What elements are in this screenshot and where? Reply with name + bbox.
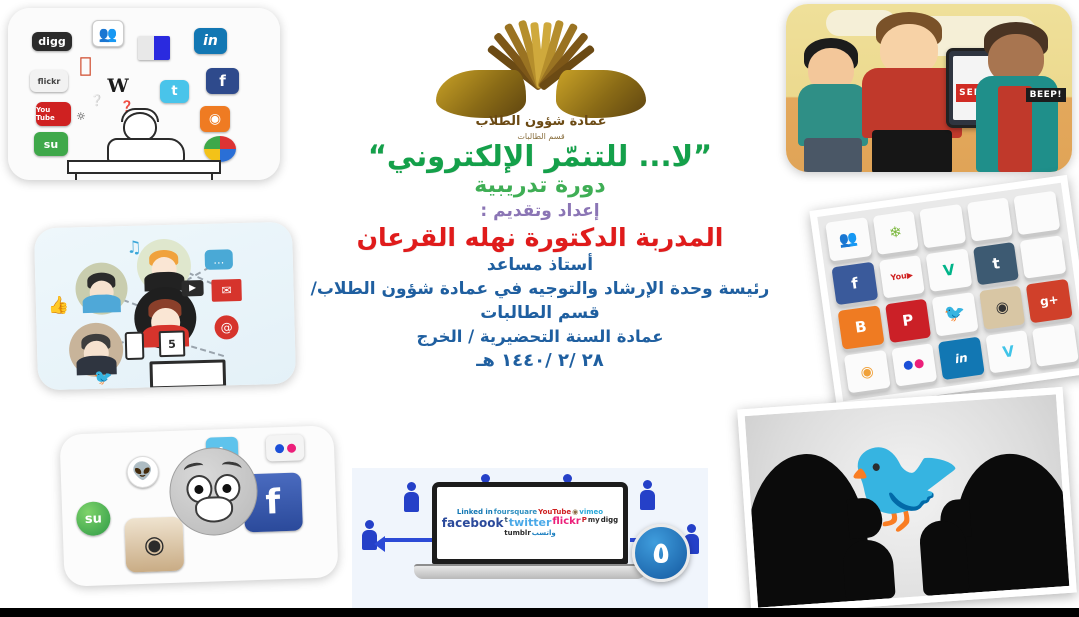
- key-blank: [1020, 235, 1067, 279]
- trainer-role: رئيسة وحدة الإرشاد والتوجيه في عمادة شؤو…: [300, 279, 780, 300]
- logo-title: عمادة شؤون الطلاب: [428, 114, 654, 129]
- msn-icon: [138, 36, 170, 60]
- avatar: [75, 262, 128, 315]
- stumbleupon-icon: su: [34, 132, 68, 156]
- facebook-icon: f: [206, 68, 239, 94]
- key-twitter: 🐦: [932, 292, 979, 336]
- hand-holding-phone-right: [919, 519, 970, 596]
- trainer-section: قسم الطالبات: [300, 303, 780, 324]
- flickr-icon: [266, 434, 305, 461]
- img-keyboard-keys: 👥 ❄ f You▶ V t B P 🐦 ◉ g+ ◉: [809, 175, 1079, 409]
- key-blank: [1032, 323, 1079, 367]
- img-social-network: ♫ … ▶ ✉ @ 👍 5 🐦: [34, 222, 296, 391]
- logo-instagram: ◉: [572, 509, 578, 516]
- thumbs-up-icon: 👍: [48, 296, 70, 317]
- apple-icon: : [72, 52, 99, 77]
- key-vimeo: V: [985, 330, 1032, 374]
- email-envelope-icon: ✉: [211, 279, 242, 302]
- wikipedia-icon: W: [104, 74, 132, 98]
- key-linkedin: in: [938, 336, 985, 380]
- logo-pinterest: P: [582, 517, 587, 529]
- video-play-icon: ▶: [181, 280, 203, 297]
- page-title: ”لا... للتنمّر الإلكتروني“: [300, 140, 780, 172]
- logo-linkedin: Linked in: [457, 509, 493, 516]
- flickr-icon: flickr: [30, 70, 68, 92]
- at-sign-icon: @: [214, 315, 239, 340]
- twitter-bird-icon: 🐦: [94, 368, 113, 386]
- logo-youtube: YouTube: [538, 509, 571, 516]
- trainer-rank: أستاذ مساعد: [300, 255, 780, 276]
- key-instagram: ◉: [979, 285, 1026, 329]
- twitter-icon: t: [160, 80, 189, 103]
- key-blank: [919, 204, 966, 248]
- key-rss: ◉: [844, 349, 891, 393]
- myspace-icon: 👥: [92, 20, 124, 47]
- laptop-screen: Linked in foursquare YouTube ◉ vimeo fac…: [437, 487, 623, 559]
- youtube-icon: You Tube: [36, 102, 71, 126]
- smartphone-icon: [125, 332, 145, 360]
- key-youtube: You▶: [878, 255, 925, 299]
- trainer-name: المدربة الدكتورة نهله القرعان: [300, 223, 780, 252]
- hand-holding-phone-left: [842, 538, 896, 601]
- logo-vimeo: vimeo: [579, 509, 603, 516]
- rss-icon: ◉: [200, 106, 230, 132]
- poster-text-block: ”لا... للتنمّر الإلكتروني“ دورة تدريبية …: [300, 140, 780, 372]
- key-facebook: f: [831, 261, 878, 305]
- thought-scribble: ☼: [76, 110, 86, 123]
- date-line: ٢٨ /٢ /١٤٤٠ هـ: [300, 350, 780, 372]
- org-logo: عمادة شؤون الطلاب قسم الطالبات: [428, 14, 654, 152]
- arrow-left: [384, 538, 432, 542]
- msn-butterfly-icon: [204, 136, 236, 162]
- key-tumblr: t: [973, 241, 1020, 285]
- logo-tumblr-2: tumblr: [504, 530, 531, 537]
- key-blogger: B: [838, 305, 885, 349]
- key-pinterest: P: [885, 299, 932, 343]
- opera-badge-icon: ٥: [632, 524, 690, 582]
- logo-digg: digg: [601, 517, 618, 529]
- key-google-plus: g+: [1026, 279, 1073, 323]
- prepared-by-label: إعداد وتقديم :: [300, 201, 780, 221]
- poster-canvas: digg 👥 in  flickr W t f You Tube ◉ su ❔…: [0, 0, 1079, 617]
- course-subtitle: دورة تدريبية: [300, 173, 780, 198]
- logo-flickr: flickr: [552, 517, 580, 529]
- logo-twitter: twitter: [509, 517, 552, 529]
- beep-label: BEEP!: [1026, 88, 1066, 102]
- img-laptop-social: Linked in foursquare YouTube ◉ vimeo fac…: [352, 468, 708, 608]
- deanship-line: عمادة السنة التحضيرية / الخرج: [300, 327, 780, 347]
- logo-facebook: facebook: [442, 517, 504, 529]
- stumbleupon-icon: su: [76, 501, 111, 536]
- key-myspace: 👥: [825, 217, 872, 261]
- person-figure: [640, 480, 655, 510]
- img-twitter-silhouettes: 🐦: [737, 387, 1077, 615]
- chat-bubble-icon: …: [205, 249, 234, 270]
- img-cyberbully-kids: SEND BEEP!: [786, 4, 1072, 172]
- instagram-icon: ◉: [124, 517, 184, 573]
- hand-left-graphic: [436, 70, 526, 118]
- img-social-overload: digg 👥 in  flickr W t f You Tube ◉ su ❔…: [8, 8, 280, 180]
- laptop-base: [414, 564, 646, 579]
- laptop-illustration: Linked in foursquare YouTube ◉ vimeo fac…: [432, 482, 628, 579]
- key-msn: ❄: [872, 211, 919, 255]
- key-flickr: [891, 343, 938, 387]
- person-figure: [404, 482, 419, 512]
- logo-myspace: my: [588, 517, 600, 529]
- key-vine: V: [926, 248, 973, 292]
- calendar-icon: 5: [159, 330, 186, 357]
- img-scared-emoji: 👽 t f su ◉: [59, 425, 338, 586]
- logo-foursquare: foursquare: [494, 509, 537, 516]
- thought-scribble: ❔: [90, 94, 104, 107]
- stressed-person-illustration: [101, 108, 187, 164]
- linkedin-icon: in: [194, 28, 227, 54]
- bottom-black-bar: [0, 608, 1079, 617]
- key-blank: [967, 197, 1014, 241]
- laptop-icon: [149, 359, 226, 389]
- music-note-icon: ♫: [126, 238, 142, 258]
- logo-arabic: واتسب: [532, 530, 556, 537]
- reddit-icon: 👽: [126, 455, 159, 488]
- digg-icon: digg: [32, 32, 72, 51]
- logo-tumblr: t: [504, 517, 507, 529]
- key-blank: [1014, 191, 1061, 235]
- desk-illustration: [67, 160, 221, 174]
